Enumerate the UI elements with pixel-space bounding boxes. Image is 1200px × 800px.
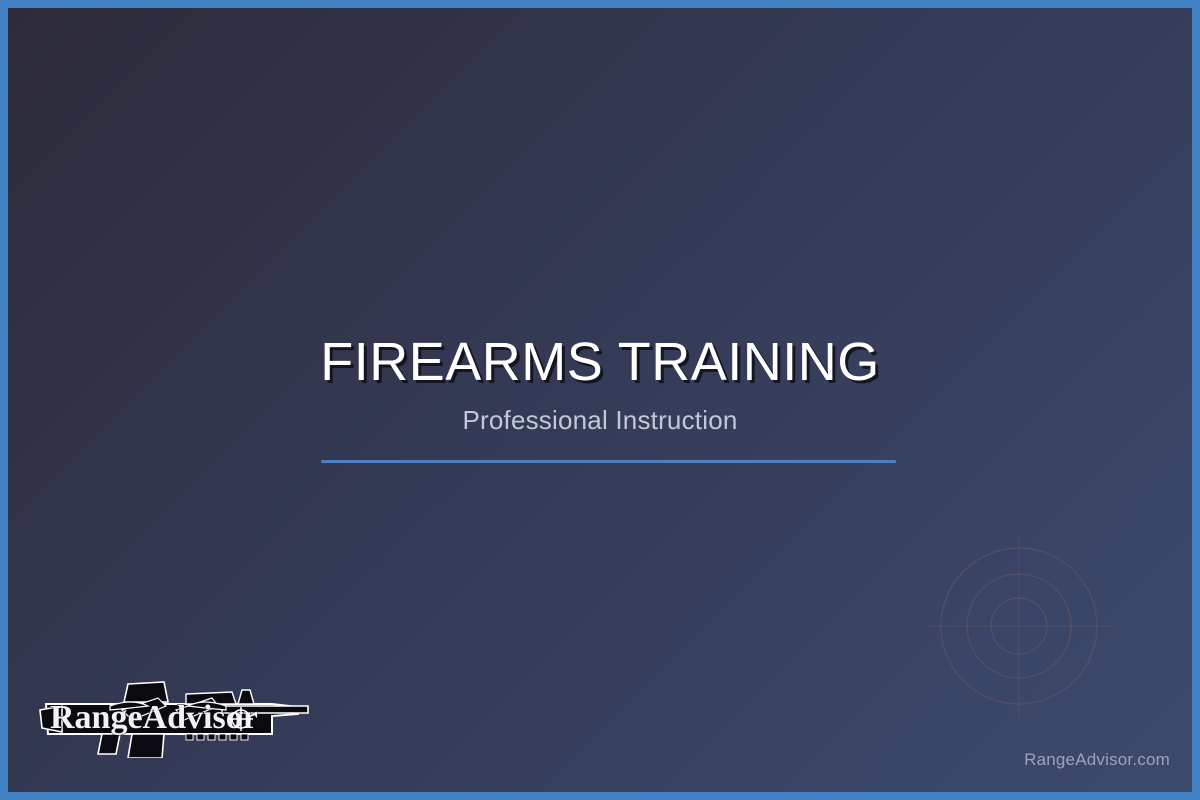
rangeadvisor-logo: RangeAdvisor	[36, 676, 316, 758]
title-block: FIREARMS TRAINING Professional Instructi…	[8, 334, 1192, 436]
presentation-slide: FIREARMS TRAINING Professional Instructi…	[0, 0, 1200, 800]
accent-divider	[321, 460, 896, 463]
slide-subtitle: Professional Instruction	[8, 405, 1192, 436]
crosshair-target-icon	[921, 528, 1117, 724]
footer-url: RangeAdvisor.com	[1024, 750, 1170, 770]
slide-canvas: FIREARMS TRAINING Professional Instructi…	[8, 8, 1192, 792]
logo-wordmark: RangeAdvisor	[50, 699, 258, 736]
slide-title: FIREARMS TRAINING	[8, 334, 1192, 391]
